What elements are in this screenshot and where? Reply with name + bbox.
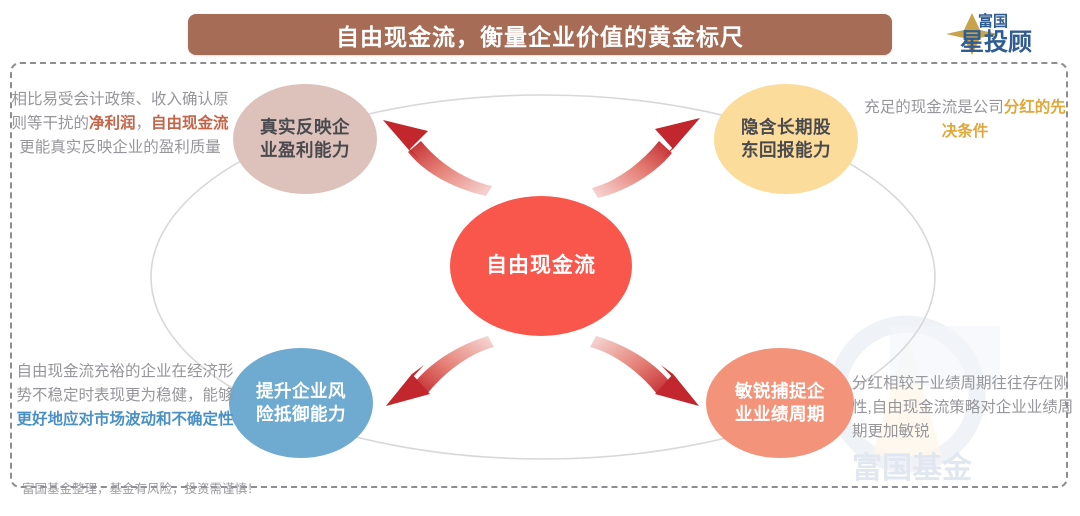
node-center[interactable]: 自由现金流 [450,196,632,336]
logo-brand-main: 星投顾 [960,29,1032,56]
description-bottom-left: 自由现金流充裕的企业在经济形势不稳定时表现更为稳健，能够更好地应对市场波动和不确… [14,360,236,432]
node-bottom-right-label: 敏锐捕捉企业业绩周期 [728,380,832,427]
desc-tr-part1: 充足的现金流是公司 [864,99,1004,116]
node-top-right-label: 隐含长期股东回报能力 [734,116,838,163]
description-top-right: 充足的现金流是公司分红的先决条件 [858,96,1072,144]
node-bottom-right[interactable]: 敏锐捕捉企业业绩周期 [706,348,854,458]
page-title-bar: 自由现金流，衡量企业价值的黄金标尺 [188,14,892,55]
description-bottom-right: 分红相较于业绩周期往往存在刚性,自由现金流策略对企业业绩周期更加敏锐 [852,372,1076,444]
node-bottom-left-label: 提升企业风险抵御能力 [249,380,353,427]
logo-brand-small: 富国 [978,12,1008,30]
fuguo-xing-tougu-logo: 富国 星投顾 [938,4,1070,60]
page-title: 自由现金流，衡量企业价值的黄金标尺 [336,18,744,52]
node-bottom-left[interactable]: 提升企业风险抵御能力 [229,348,373,458]
infographic-canvas: 自由现金流，衡量企业价值的黄金标尺 富国 星投顾 富国基金 [0,0,1080,516]
node-top-left-label: 真实反映企业盈利能力 [253,116,357,163]
description-top-left: 相比易受会计政策、收入确认原则等干扰的净利润，自由现金流更能真实反映企业的盈利质… [6,88,234,160]
node-center-label: 自由现金流 [471,252,611,280]
desc-tl-highlight1: 净利润 [89,115,136,132]
node-top-left[interactable]: 真实反映企业盈利能力 [233,84,377,194]
desc-tl-part3: 更能真实反映企业的盈利质量 [19,139,221,156]
desc-bl-highlight1: 更好地应对市场波动和不确定性 [16,411,233,428]
desc-bl-part1: 自由现金流充裕的企业在经济形势不稳定时表现更为稳健，能够 [16,363,233,404]
node-top-right[interactable]: 隐含长期股东回报能力 [714,84,858,194]
desc-tl-highlight2: 自由现金流 [151,115,229,132]
desc-br-part1: 分红相较于业绩周期往往存在刚性,自由现金流策略对企业业绩周期更加敏锐 [852,375,1073,440]
disclaimer-text: 富国基金整理，基金有风险，投资需谨慎！ [22,478,260,497]
desc-tl-part2: ， [136,115,152,132]
